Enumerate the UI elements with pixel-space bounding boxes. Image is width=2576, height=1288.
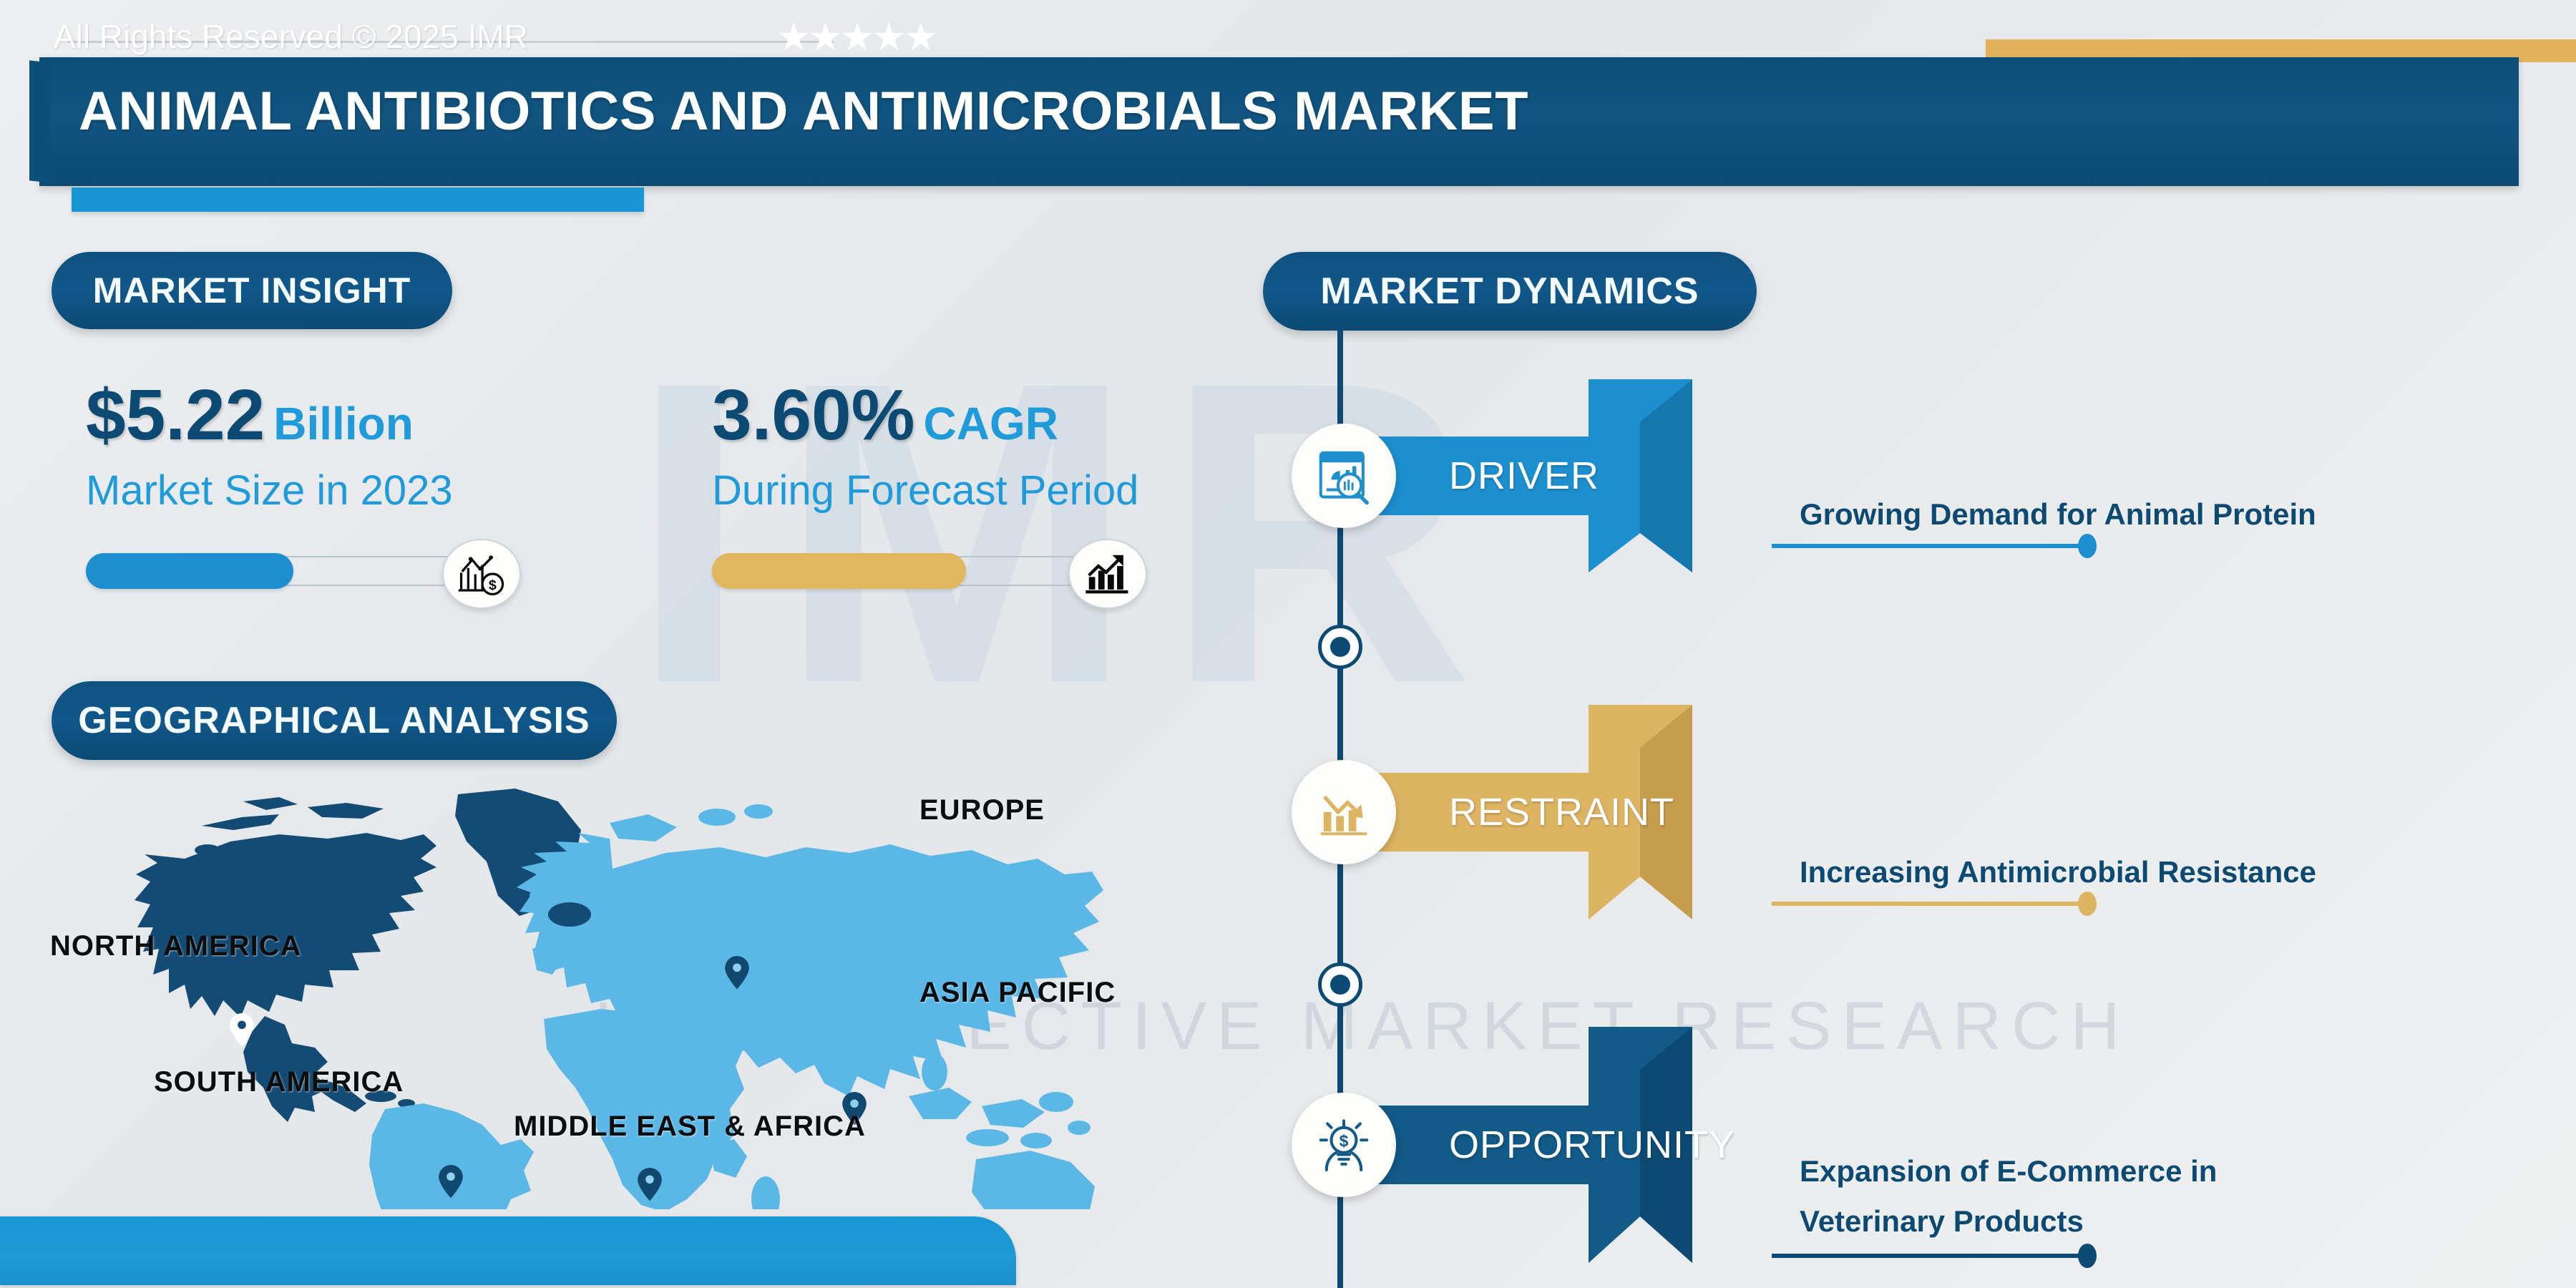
dynamics-row-restraint: RESTRAINT: [1335, 773, 1764, 852]
restraint-label: RESTRAINT: [1449, 773, 1674, 852]
page-title: ANIMAL ANTIBIOTICS AND ANTIMICROBIALS MA…: [79, 80, 1528, 142]
market-size-unit: Billion: [273, 398, 414, 449]
restraint-underline-dot: [2078, 892, 2097, 916]
header-underline-accent: [72, 187, 644, 212]
stat-market-size: $5.22Billion Market Size in 2023 $: [86, 379, 673, 603]
svg-text:$: $: [489, 577, 497, 593]
report-magnifier-icon: [1292, 424, 1396, 528]
market-size-value: $5.22: [86, 375, 265, 455]
geographical-analysis-pill: GEOGRAPHICAL ANALYSIS: [52, 681, 617, 760]
map-label-europe: EUROPE: [919, 794, 1045, 826]
cagr-progress: [712, 539, 1299, 603]
opportunity-description-line1: Expansion of E-Commerce in: [1800, 1151, 2217, 1192]
footer-bar: [0, 1216, 1016, 1285]
market-size-progress: $: [86, 539, 673, 603]
opportunity-label: OPPORTUNITY: [1449, 1106, 1735, 1184]
bar-chart-dollar-icon: $: [442, 539, 521, 609]
map-label-south-america: SOUTH AMERICA: [154, 1066, 404, 1098]
lightbulb-dollar-icon: $: [1292, 1093, 1396, 1197]
opportunity-underline-dot: [2078, 1244, 2097, 1268]
map-label-north-america: NORTH AMERICA: [50, 930, 302, 962]
market-dynamics-pill: MARKET DYNAMICS: [1263, 252, 1757, 331]
driver-label: DRIVER: [1449, 436, 1599, 515]
growth-arrow-chart-icon: [1068, 539, 1147, 609]
cagr-progress-fill: [712, 553, 966, 589]
driver-description: Growing Demand for Animal Protein: [1800, 494, 2316, 535]
market-insight-pill: MARKET INSIGHT: [52, 252, 452, 329]
declining-bar-chart-icon: [1292, 760, 1396, 864]
timeline-node-2: [1318, 962, 1362, 1007]
dynamics-row-opportunity: OPPORTUNITY $: [1335, 1106, 1764, 1184]
driver-underline: [1772, 544, 2087, 548]
star-rating: ★★★★★: [776, 14, 935, 59]
driver-underline-dot: [2078, 534, 2097, 558]
cagr-caption: During Forecast Period: [712, 467, 1299, 514]
svg-text:$: $: [1340, 1132, 1349, 1151]
stat-cagr: 3.60%CAGR During Forecast Period: [712, 379, 1299, 603]
dynamics-row-driver: DRIVER: [1335, 436, 1764, 515]
map-label-middle-east-africa: MIDDLE EAST & AFRICA: [514, 1111, 866, 1143]
timeline-node-1: [1318, 625, 1362, 669]
copyright-text: All Rights Reserved © 2025 IMR: [54, 17, 528, 56]
market-size-progress-fill: [86, 553, 293, 589]
infographic-canvas: IMR INTROSPECTIVE MARKET RESEARCH ANIMAL…: [0, 0, 2576, 1288]
cagr-value: 3.60%: [712, 375, 915, 455]
cagr-unit: CAGR: [924, 398, 1058, 449]
region-australia-shape: [972, 1151, 1123, 1209]
opportunity-underline: [1772, 1254, 2087, 1258]
opportunity-description-line2: Veterinary Products: [1800, 1201, 2084, 1242]
restraint-underline: [1772, 902, 2087, 906]
market-size-caption: Market Size in 2023: [86, 467, 673, 514]
restraint-description: Increasing Antimicrobial Resistance: [1800, 852, 2316, 893]
map-label-asia-pacific: ASIA PACIFIC: [919, 977, 1116, 1009]
